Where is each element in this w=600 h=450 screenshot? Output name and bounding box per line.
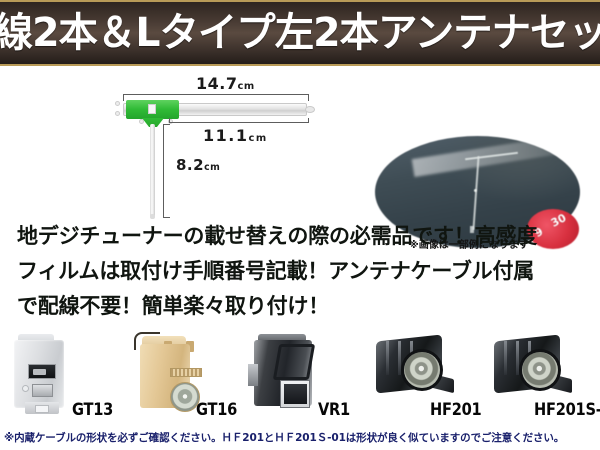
connector-lineup: GT13 GT16	[0, 332, 600, 424]
hf201s01-rib	[516, 341, 519, 375]
dimension-value-cable-length: 8.2	[176, 156, 204, 174]
gt13-base	[25, 402, 59, 414]
footer-notice-bar: ※内蔵ケーブルの形状を必ずご確認ください。ＨＦ201とＨＦ201Ｓ-01は形状が…	[0, 428, 600, 450]
antenna-chip-marker	[148, 104, 156, 114]
antenna-element-tip	[305, 106, 315, 113]
dimension-line-width-total	[123, 94, 309, 95]
connector-hf201s01: HF201S-01	[486, 332, 598, 424]
gt13-port-window	[28, 364, 56, 379]
dimension-tick-left-total	[123, 94, 124, 101]
gt16-contact-grill	[170, 368, 202, 377]
footer-notice-text: ※内蔵ケーブルの形状を必ずご確認ください。ＨＦ201とＨＦ201Ｓ-01は形状が…	[4, 430, 564, 445]
description-line-2: フィルムは取付け手順番号記載！アンテナケーブル付属	[17, 261, 534, 282]
vr1-side-flange	[248, 364, 258, 386]
antenna-pad	[115, 101, 120, 106]
dimension-unit-element-width: cm	[248, 133, 267, 144]
connector-label-hf201s01: HF201S-01	[534, 400, 600, 420]
hf201s01-rib	[504, 341, 507, 375]
vr1-housing	[254, 340, 312, 406]
description-line-1: 地デジチューナーの載せ替えの際の必需品です！高感度	[17, 226, 537, 247]
vr1-port-window	[280, 380, 310, 408]
gt13-lower-port	[32, 384, 53, 397]
dimension-label-cable-length: 8.2cm	[176, 158, 220, 173]
dimension-tick-top-cable	[163, 124, 170, 125]
antenna-pad	[115, 111, 120, 116]
vr1-locking-lever	[273, 344, 315, 380]
hf201-coax-ring	[404, 352, 440, 388]
dimension-value-element-width: 11.1	[203, 126, 248, 145]
banner-header: 配線2本＆Lタイプ左2本アンテナセット	[0, 0, 600, 66]
dimension-tick-right-element	[308, 118, 309, 123]
dimension-tick-right-total	[308, 94, 309, 101]
antenna-diagram: 14.7cm 11.1cm 8.2cm	[0, 66, 600, 218]
product-description: 地デジチューナーの載せ替えの際の必需品です！高感度 フィルムは取付け手順番号記載…	[0, 222, 600, 326]
antenna-cable	[150, 124, 155, 217]
dimension-line-element-width	[169, 122, 309, 123]
dimension-value-total-width: 14.7	[196, 74, 237, 93]
gt13-side-dot	[22, 385, 29, 392]
dimension-tick-bottom-cable	[163, 217, 170, 218]
antenna-cable-end	[150, 214, 155, 219]
dimension-unit-total-width: cm	[237, 81, 254, 92]
connector-label-gt13: GT13	[72, 400, 113, 420]
dimension-line-cable-length	[163, 124, 164, 218]
connector-gt13: GT13	[8, 332, 116, 424]
connector-label-gt16: GT16	[196, 400, 237, 420]
connector-gt16: GT16	[126, 332, 238, 424]
dimension-tick-left-element	[169, 118, 170, 123]
hf201-rib	[398, 341, 401, 375]
connector-hf201: HF201	[368, 332, 484, 424]
dimension-unit-cable-length: cm	[204, 162, 220, 173]
hf201s01-coax-ring	[522, 352, 558, 388]
page-title: 配線2本＆Lタイプ左2本アンテナセット	[0, 13, 600, 53]
connector-vr1: VR1	[248, 332, 358, 424]
gt13-housing	[14, 340, 64, 408]
connector-label-hf201: HF201	[430, 400, 481, 420]
description-line-3: で配線不要！簡単楽々取り付け！	[17, 296, 329, 317]
product-banner: 配線2本＆Lタイプ左2本アンテナセット 14.7cm 11.1cm 8.2cm	[0, 0, 600, 450]
connector-label-vr1: VR1	[318, 400, 350, 420]
dimension-label-total-width: 14.7cm	[196, 76, 255, 92]
hf201-rib	[386, 341, 389, 375]
gt16-housing	[140, 344, 190, 408]
antenna-pad	[139, 119, 144, 124]
dimension-label-element-width: 11.1cm	[203, 128, 268, 144]
